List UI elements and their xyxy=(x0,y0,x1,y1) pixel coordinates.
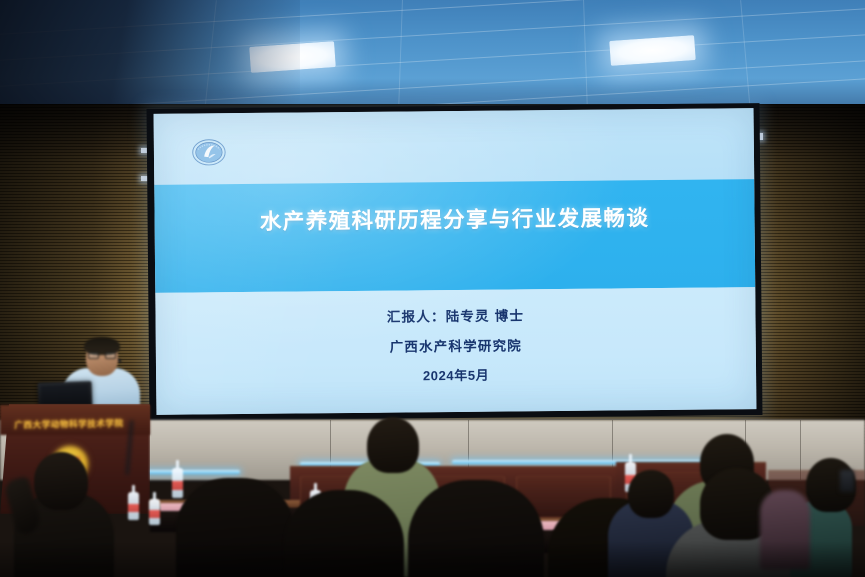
audience-member-head xyxy=(367,417,419,473)
bottle-label xyxy=(149,510,160,518)
phone-device xyxy=(840,470,854,492)
glasses-icon xyxy=(88,352,116,359)
slide-title: 水产养殖科研历程分享与行业发展畅谈 xyxy=(154,200,754,237)
audience-member xyxy=(408,480,544,577)
ceiling-shadow xyxy=(0,0,300,112)
ceiling-grid-line xyxy=(740,0,751,112)
ceiling xyxy=(0,0,865,112)
audience-member-head xyxy=(628,470,674,518)
ceiling-grid-line xyxy=(398,0,403,112)
slide-surface: 水产养殖科研历程分享与行业发展畅谈 汇报人：陆专灵 博士 广西水产科学研究院 2… xyxy=(154,108,757,415)
ceiling-light-panel xyxy=(609,35,696,66)
audience-member xyxy=(284,490,404,577)
water-bottle xyxy=(149,499,160,525)
bottle-label xyxy=(172,481,183,490)
slide-band-middle xyxy=(154,179,755,293)
screen-bezel: 水产养殖科研历程分享与行业发展畅谈 汇报人：陆专灵 博士 广西水产科学研究院 2… xyxy=(147,103,763,421)
audience-member xyxy=(760,490,810,570)
institute-seal-logo xyxy=(191,137,227,167)
audience-member-head xyxy=(34,452,88,510)
water-bottle xyxy=(172,468,183,498)
projection-screen: 水产养殖科研历程分享与行业发展畅谈 汇报人：陆专灵 博士 广西水产科学研究院 2… xyxy=(147,103,763,421)
water-bottle xyxy=(128,492,139,520)
audience-member xyxy=(176,478,294,577)
slide-band-top xyxy=(154,108,755,184)
podium-banner-text: 广西大学动物科学技术学院 xyxy=(6,413,132,435)
lecture-hall-scene: 水产养殖科研历程分享与行业发展畅谈 汇报人：陆专灵 博士 广西水产科学研究院 2… xyxy=(0,0,865,577)
bottle-label xyxy=(128,504,139,512)
